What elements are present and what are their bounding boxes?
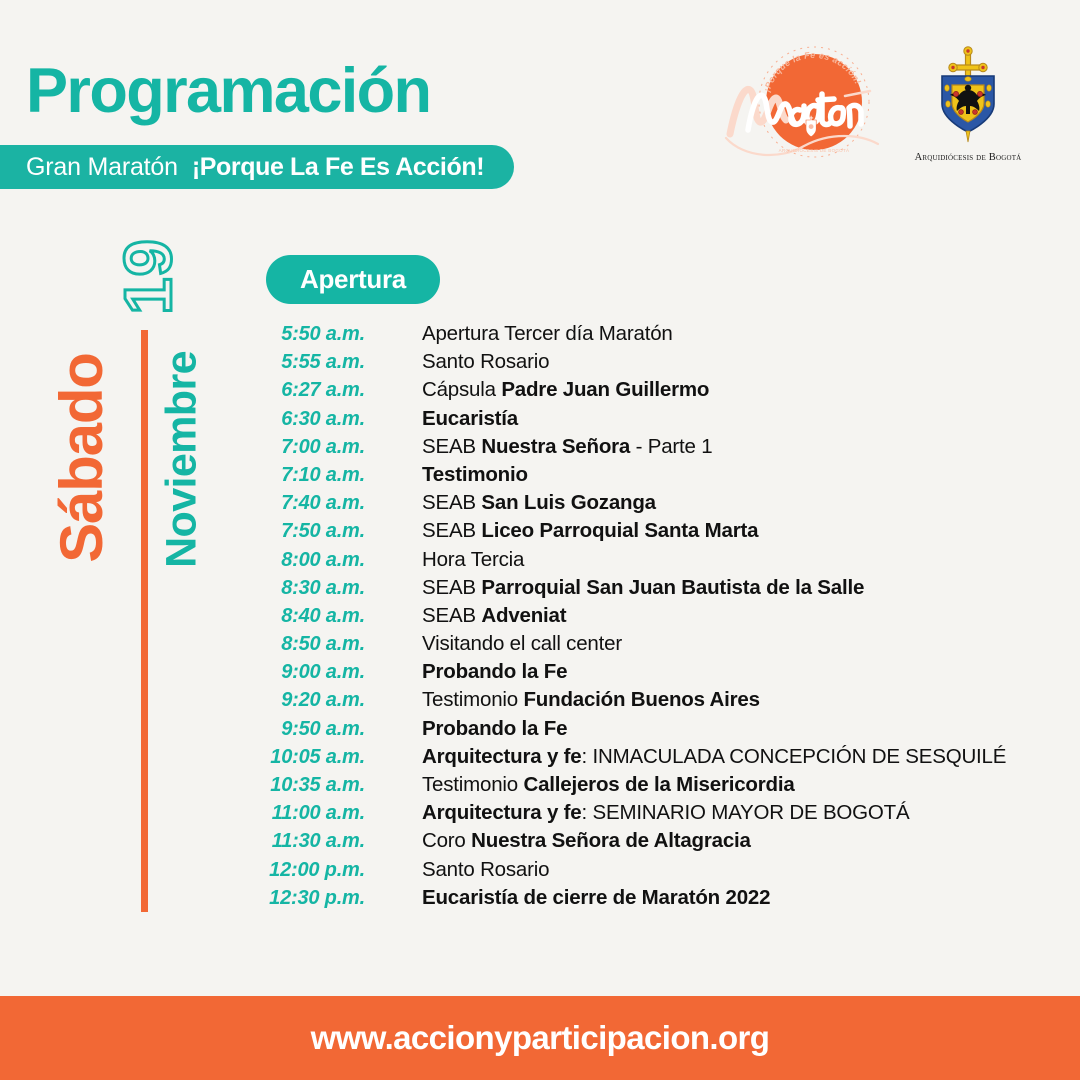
- schedule-time: 12:00 p.m.: [255, 859, 365, 882]
- schedule-description-suffix: : SEMINARIO MAYOR DE BOGOTÁ: [582, 801, 910, 824]
- schedule-row: 9:00 a.m.Probando la Fe: [255, 660, 1055, 688]
- schedule-row: 7:50 a.m.SEAB Liceo Parroquial Santa Mar…: [255, 519, 1055, 547]
- schedule-description-plain: Coro: [422, 829, 471, 852]
- schedule-description-plain: Testimonio: [422, 688, 523, 711]
- subtitle-slogan: ¡Porque La Fe Es Acción!: [192, 153, 484, 182]
- schedule-row: 5:50 a.m.Apertura Tercer día Maratón: [255, 322, 1055, 350]
- schedule-description-plain: Apertura Tercer día Maratón: [422, 322, 673, 345]
- schedule-description: Probando la Fe: [422, 717, 567, 741]
- schedule-row: 12:00 p.m.Santo Rosario: [255, 858, 1055, 886]
- schedule-time: 8:00 a.m.: [255, 549, 365, 572]
- schedule-description-highlight: Callejeros de la Misericordia: [523, 773, 794, 796]
- schedule-time: 8:30 a.m.: [255, 577, 365, 600]
- schedule-row: 9:20 a.m.Testimonio Fundación Buenos Air…: [255, 688, 1055, 716]
- schedule-row: 10:35 a.m.Testimonio Callejeros de la Mi…: [255, 773, 1055, 801]
- schedule-row: 7:00 a.m.SEAB Nuestra Señora - Parte 1: [255, 435, 1055, 463]
- schedule-description-plain: SEAB: [422, 604, 481, 627]
- schedule-time: 9:20 a.m.: [255, 689, 365, 712]
- schedule-description-plain: SEAB: [422, 519, 481, 542]
- schedule-time: 10:05 a.m.: [255, 746, 365, 769]
- schedule-time: 6:30 a.m.: [255, 408, 365, 431]
- schedule-time: 6:27 a.m.: [255, 379, 365, 402]
- schedule-description-highlight: Arquitectura y fe: [422, 745, 582, 768]
- schedule-description: Santo Rosario: [422, 858, 549, 882]
- schedule-time: 7:40 a.m.: [255, 492, 365, 515]
- page-title: Programación: [26, 60, 430, 123]
- footer-bar: www.accionyparticipacion.org: [0, 996, 1080, 1080]
- schedule-time: 7:10 a.m.: [255, 464, 365, 487]
- schedule-description-highlight: San Luis Gozanga: [481, 491, 656, 514]
- arquidiocesis-logo: Arquidiócesis de Bogotá: [916, 42, 1020, 168]
- schedule-description: Arquitectura y fe: INMACULADA CONCEPCIÓN…: [422, 745, 1006, 769]
- schedule-description: Visitando el call center: [422, 632, 622, 656]
- schedule-row: 6:27 a.m.Cápsula Padre Juan Guillermo: [255, 378, 1055, 406]
- schedule-description: Eucaristía de cierre de Maratón 2022: [422, 886, 770, 910]
- schedule-row: 6:30 a.m.Eucaristía: [255, 407, 1055, 435]
- schedule-description-highlight: Nuestra Señora de Altagracia: [471, 829, 751, 852]
- schedule-description-plain: SEAB: [422, 576, 481, 599]
- schedule-description: SEAB Nuestra Señora - Parte 1: [422, 435, 712, 459]
- subtitle-event-name: Gran Maratón: [26, 153, 178, 182]
- schedule-description: SEAB Liceo Parroquial Santa Marta: [422, 519, 758, 543]
- schedule-description-highlight: Probando la Fe: [422, 717, 567, 740]
- schedule-description-highlight: Fundación Buenos Aires: [523, 688, 759, 711]
- schedule-time: 10:35 a.m.: [255, 774, 365, 797]
- schedule-description-plain: SEAB: [422, 435, 481, 458]
- schedule-time: 7:50 a.m.: [255, 520, 365, 543]
- schedule-description: Santo Rosario: [422, 350, 549, 374]
- vertical-divider: [141, 330, 148, 912]
- schedule-description-highlight: Nuestra Señora: [481, 435, 630, 458]
- schedule-description-plain: Visitando el call center: [422, 632, 622, 655]
- schedule-time: 8:40 a.m.: [255, 605, 365, 628]
- schedule-description-plain: Santo Rosario: [422, 858, 549, 881]
- schedule-description: Cápsula Padre Juan Guillermo: [422, 378, 709, 402]
- schedule-description-plain: Santo Rosario: [422, 350, 549, 373]
- schedule-description-highlight: Liceo Parroquial Santa Marta: [481, 519, 758, 542]
- schedule-row: 7:40 a.m.SEAB San Luis Gozanga: [255, 491, 1055, 519]
- svg-text:ARQUIDIÓCESIS DE BOGOTÁ: ARQUIDIÓCESIS DE BOGOTÁ: [779, 147, 850, 153]
- schedule-description: Arquitectura y fe: SEMINARIO MAYOR DE BO…: [422, 801, 909, 825]
- schedule-row: 8:30 a.m.SEAB Parroquial San Juan Bautis…: [255, 576, 1055, 604]
- footer-website-url: www.accionyparticipacion.org: [311, 1019, 770, 1057]
- schedule-row: 10:05 a.m.Arquitectura y fe: INMACULADA …: [255, 745, 1055, 773]
- schedule-row: 8:40 a.m.SEAB Adveniat: [255, 604, 1055, 632]
- schedule-description-plain: Cápsula: [422, 378, 501, 401]
- schedule-time: 9:50 a.m.: [255, 718, 365, 741]
- schedule-description: SEAB San Luis Gozanga: [422, 491, 656, 515]
- schedule-description-highlight: Eucaristía de cierre de Maratón 2022: [422, 886, 770, 909]
- schedule-description-plain: Hora Tercia: [422, 548, 524, 571]
- schedule-time: 5:55 a.m.: [255, 351, 365, 374]
- schedule-row: 5:55 a.m.Santo Rosario: [255, 350, 1055, 378]
- schedule-row: 11:00 a.m.Arquitectura y fe: SEMINARIO M…: [255, 801, 1055, 829]
- schedule-description-plain: SEAB: [422, 491, 481, 514]
- schedule-time: 11:30 a.m.: [255, 830, 365, 853]
- arquidiocesis-crest-icon: [916, 42, 1020, 150]
- schedule-description-highlight: Padre Juan Guillermo: [501, 378, 709, 401]
- section-badge-apertura[interactable]: Apertura: [266, 255, 440, 304]
- schedule-description: Hora Tercia: [422, 548, 524, 572]
- poster-canvas: Programación Gran Maratón ¡Porque La Fe …: [0, 0, 1080, 1080]
- schedule-time: 8:50 a.m.: [255, 633, 365, 656]
- schedule-description: Apertura Tercer día Maratón: [422, 322, 673, 346]
- date-month-name: Noviembre: [161, 330, 204, 590]
- schedule-description-highlight: Arquitectura y fe: [422, 801, 582, 824]
- schedule-description-highlight: Probando la Fe: [422, 660, 567, 683]
- schedule-time: 5:50 a.m.: [255, 323, 365, 346]
- schedule-description-highlight: Eucaristía: [422, 407, 518, 430]
- schedule-description-suffix: : INMACULADA CONCEPCIÓN DE SESQUILÉ: [582, 745, 1007, 768]
- schedule-row: 8:50 a.m.Visitando el call center: [255, 632, 1055, 660]
- schedule-description: SEAB Adveniat: [422, 604, 566, 628]
- schedule-row: 7:10 a.m.Testimonio: [255, 463, 1055, 491]
- schedule-row: 11:30 a.m.Coro Nuestra Señora de Altagra…: [255, 829, 1055, 857]
- schedule-description: SEAB Parroquial San Juan Bautista de la …: [422, 576, 864, 600]
- schedule-description-highlight: Testimonio: [422, 463, 528, 486]
- date-day-number-text: 19: [115, 238, 182, 315]
- schedule-description-highlight: Adveniat: [481, 604, 566, 627]
- schedule-description: Testimonio Fundación Buenos Aires: [422, 688, 760, 712]
- section-badge-label: Apertura: [300, 264, 406, 295]
- arquidiocesis-caption: Arquidiócesis de Bogotá: [915, 152, 1022, 163]
- schedule-time: 9:00 a.m.: [255, 661, 365, 684]
- schedule-description-suffix: - Parte 1: [630, 435, 712, 458]
- schedule-row: 8:00 a.m.Hora Tercia: [255, 548, 1055, 576]
- schedule-row: 9:50 a.m.Probando la Fe: [255, 717, 1055, 745]
- subtitle-banner: Gran Maratón ¡Porque La Fe Es Acción!: [0, 145, 514, 189]
- date-day-name: Sábado: [52, 328, 112, 588]
- schedule-time: 11:00 a.m.: [255, 802, 365, 825]
- schedule-description: Testimonio Callejeros de la Misericordia: [422, 773, 795, 797]
- schedule-description: Coro Nuestra Señora de Altagracia: [422, 829, 751, 853]
- schedule-description: Testimonio: [422, 463, 528, 487]
- schedule-time: 12:30 p.m.: [255, 887, 365, 910]
- date-day-number: 19: [68, 216, 228, 336]
- schedule-time: 7:00 a.m.: [255, 436, 365, 459]
- schedule-description-plain: Testimonio: [422, 773, 523, 796]
- schedule-row: 12:30 p.m.Eucaristía de cierre de Marató…: [255, 886, 1055, 914]
- schedule-list: 5:50 a.m.Apertura Tercer día Maratón5:55…: [255, 322, 1055, 914]
- schedule-description-highlight: Parroquial San Juan Bautista de la Salle: [481, 576, 864, 599]
- maraton-logo: ¡Porque la Fe es acción!: [718, 42, 904, 168]
- schedule-description: Probando la Fe: [422, 660, 567, 684]
- schedule-description: Eucaristía: [422, 407, 518, 431]
